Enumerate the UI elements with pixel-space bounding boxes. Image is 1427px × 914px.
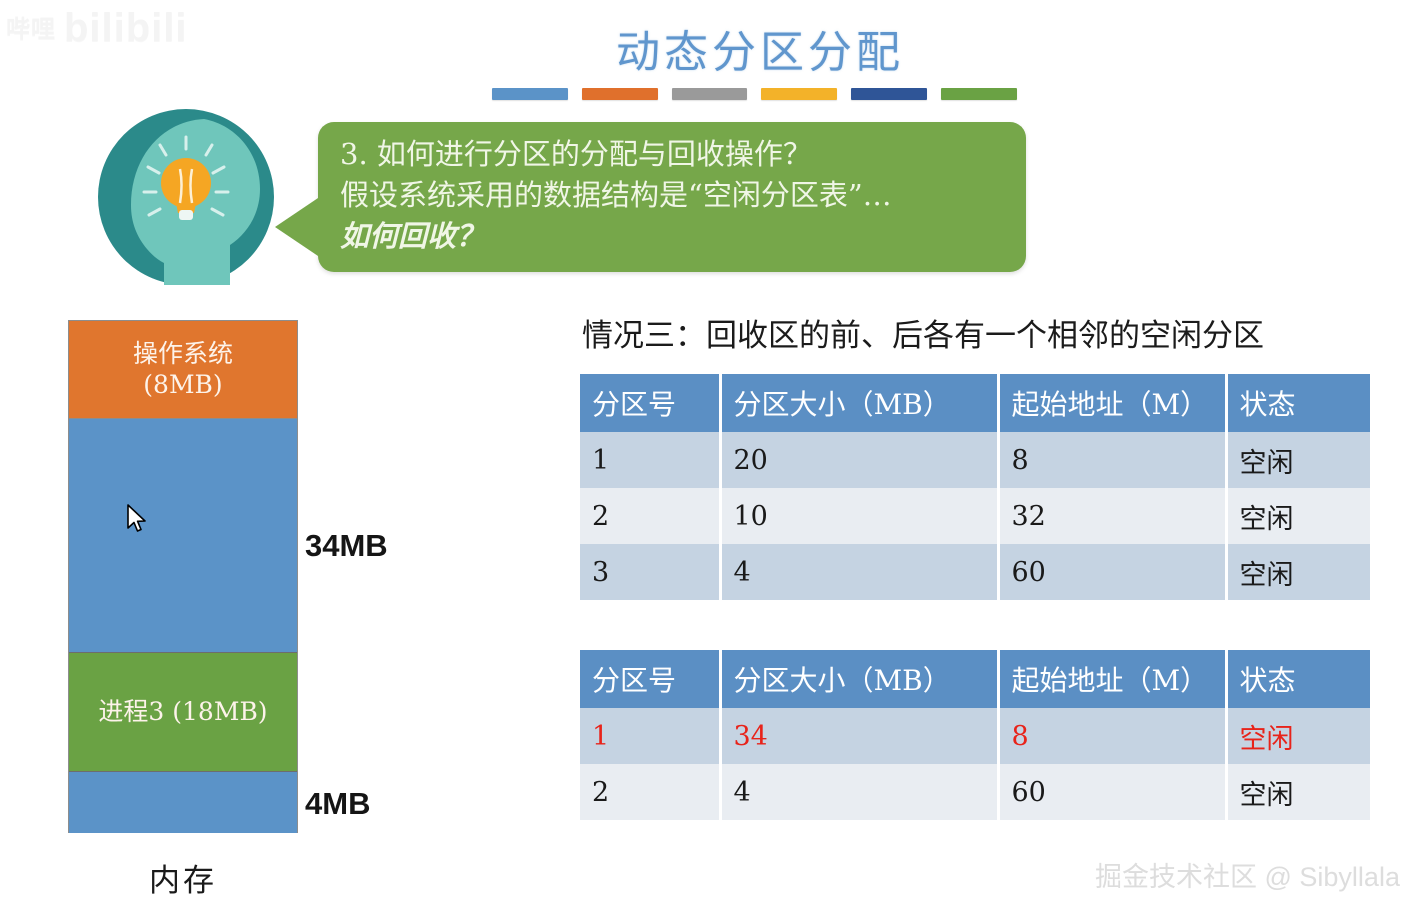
free-partition-table-after: 分区号 分区大小（MB） 起始地址（M） 状态 1 34 8 空闲 2 4 60… — [580, 650, 1370, 820]
column-header-status: 状态 — [1226, 374, 1370, 432]
cell-partition-id: 3 — [580, 544, 720, 600]
table-row: 2 4 60 空闲 — [580, 764, 1370, 820]
title-rule-segment-5 — [851, 88, 927, 100]
cell-partition-size: 4 — [720, 544, 998, 600]
bilibili-watermark-cn: 哔哩 — [6, 16, 56, 43]
site-watermark: 掘金技术社区 @ Sibyllala — [1095, 855, 1400, 894]
memory-block-os-label: 操作系统 — [133, 339, 233, 370]
column-header-partition-id: 分区号 — [580, 374, 720, 432]
cell-partition-size: 34 — [720, 708, 998, 764]
memory-block-free-top — [69, 419, 297, 652]
memory-size-label-free-bottom: 4MB — [305, 786, 370, 822]
memory-size-label-free-top: 34MB — [305, 528, 388, 564]
cell-partition-id: 2 — [580, 488, 720, 544]
bilibili-watermark-latin: bilibili — [64, 6, 188, 50]
callout-line-2: 假设系统采用的数据结构是“空闲分区表”… — [340, 175, 1010, 216]
cell-partition-size: 10 — [720, 488, 998, 544]
memory-block-free-bottom — [69, 772, 297, 833]
cell-start-address: 60 — [998, 544, 1226, 600]
cell-start-address: 8 — [998, 432, 1226, 488]
cell-status: 空闲 — [1226, 544, 1370, 600]
title-rule-segment-1 — [492, 88, 568, 100]
bilibili-watermark: 哔哩bilibili — [6, 2, 221, 54]
title-rule-segment-4 — [761, 88, 837, 100]
cell-partition-size: 20 — [720, 432, 998, 488]
cell-status: 空闲 — [1226, 432, 1370, 488]
memory-block-os: 操作系统 (8MB) — [69, 321, 297, 419]
memory-block-process3-label: 进程3 (18MB) — [98, 697, 267, 728]
cell-status: 空闲 — [1226, 488, 1370, 544]
cell-partition-id: 1 — [580, 708, 720, 764]
mouse-cursor-icon — [126, 504, 148, 534]
title-rule-segment-2 — [582, 88, 658, 100]
column-header-partition-size: 分区大小（MB） — [720, 650, 998, 708]
cell-start-address: 32 — [998, 488, 1226, 544]
callout-line-3: 如何回收？ — [340, 216, 1010, 257]
column-header-partition-id: 分区号 — [580, 650, 720, 708]
cell-start-address: 60 — [998, 764, 1226, 820]
head-lightbulb-icon — [96, 107, 276, 287]
title-rule-segment-3 — [672, 88, 748, 100]
cell-partition-id: 2 — [580, 764, 720, 820]
slide-canvas: 哔哩bilibili 动态分区分配 — [0, 0, 1427, 914]
memory-block-os-size: (8MB) — [143, 370, 222, 401]
memory-block-process3: 进程3 (18MB) — [69, 652, 297, 772]
table-row: 2 10 32 空闲 — [580, 488, 1370, 544]
table-row-highlighted: 1 34 8 空闲 — [580, 708, 1370, 764]
title-rule-segment-6 — [941, 88, 1017, 100]
free-partition-table-before: 分区号 分区大小（MB） 起始地址（M） 状态 1 20 8 空闲 2 10 3… — [580, 374, 1370, 600]
callout-tail — [275, 196, 321, 258]
page-title: 动态分区分配 — [480, 16, 1040, 80]
cell-start-address: 8 — [998, 708, 1226, 764]
table-row: 1 20 8 空闲 — [580, 432, 1370, 488]
callout-line-1: 3. 如何进行分区的分配与回收操作？ — [340, 134, 1010, 175]
cell-status: 空闲 — [1226, 708, 1370, 764]
cell-partition-id: 1 — [580, 432, 720, 488]
column-header-start-address: 起始地址（M） — [998, 374, 1226, 432]
table-row: 3 4 60 空闲 — [580, 544, 1370, 600]
memory-layout-diagram: 操作系统 (8MB) 进程3 (18MB) — [68, 320, 298, 833]
cell-status: 空闲 — [1226, 764, 1370, 820]
memory-caption: 内存 — [68, 855, 298, 900]
column-header-partition-size: 分区大小（MB） — [720, 374, 998, 432]
column-header-status: 状态 — [1226, 650, 1370, 708]
case-heading: 情况三：回收区的前、后各有一个相邻的空闲分区 — [582, 310, 1382, 355]
table-header-row: 分区号 分区大小（MB） 起始地址（M） 状态 — [580, 374, 1370, 432]
table-header-row: 分区号 分区大小（MB） 起始地址（M） 状态 — [580, 650, 1370, 708]
title-rule — [492, 88, 1017, 102]
callout-text: 3. 如何进行分区的分配与回收操作？ 假设系统采用的数据结构是“空闲分区表”… … — [340, 134, 1010, 258]
column-header-start-address: 起始地址（M） — [998, 650, 1226, 708]
cell-partition-size: 4 — [720, 764, 998, 820]
